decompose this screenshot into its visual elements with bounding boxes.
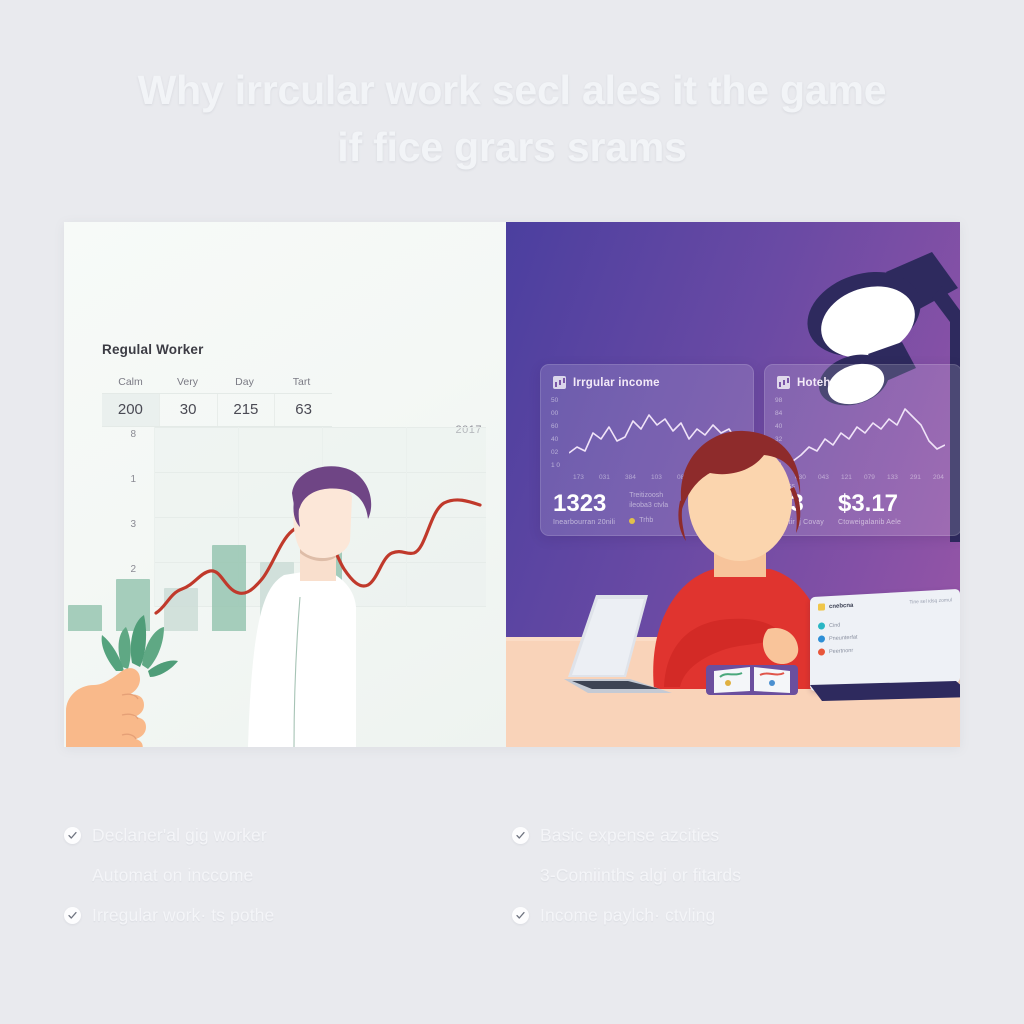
stat-block: 1323 Inearbourran 20nili: [553, 492, 615, 526]
checklist-label: Declaner'al gig worker: [92, 825, 267, 846]
x-axis-tick: 031: [599, 474, 610, 481]
stat-value: 1323: [553, 492, 615, 516]
y-axis-tick: 00: [551, 410, 558, 417]
illustration-panels: Regulal Worker Calm Very Day Tart 200 30…: [64, 222, 960, 747]
checklist-label: Automat on inccome: [92, 865, 253, 886]
check-circle-icon: [512, 907, 529, 924]
check-circle-icon-empty: [512, 867, 529, 884]
legend-dot-icon: [818, 622, 825, 629]
laptop-right[interactable]: cnebcna Tine sel idsq zomul Cind Pneunte…: [810, 593, 960, 703]
panel-gig-worker: Irrgular income 50 00 60 40 02 1 0 173 0…: [506, 222, 960, 747]
gridline: [154, 427, 486, 428]
hand-holding-plant: [64, 605, 216, 747]
laptop-base: [806, 681, 960, 703]
list-item: Cind: [818, 621, 857, 630]
title-line-2: if fice grars srams: [50, 119, 974, 176]
card-title: Hoteh: [797, 377, 831, 389]
checklist-item[interactable]: Income paylch· ctvling: [512, 895, 960, 935]
table-cell: 30: [160, 394, 218, 426]
brand-logo-icon: [818, 603, 825, 610]
checklist-item[interactable]: Basic expense azcities: [512, 815, 960, 855]
checklist-item[interactable]: Automat on inccome: [64, 855, 512, 895]
check-circle-icon: [64, 827, 81, 844]
stats-table: Calm Very Day Tart 200 30 215 63: [102, 370, 332, 427]
page-title: Why irrcular work secl ales it the game …: [0, 62, 1024, 175]
x-axis-tick: 291: [910, 474, 921, 481]
panel-regular-worker: Regulal Worker Calm Very Day Tart 200 30…: [64, 222, 506, 747]
y-axis-tick: 50: [551, 397, 558, 404]
laptop-left[interactable]: [544, 589, 694, 699]
list-item: Peertnonr: [818, 647, 857, 656]
table-header-cell: Calm: [102, 370, 159, 393]
card-title: Irrgular income: [573, 377, 660, 389]
checklist-item[interactable]: 3-Comiinths algi or fitards: [512, 855, 960, 895]
x-axis-tick: 204: [933, 474, 944, 481]
list-item: Pneunterfat: [818, 634, 857, 643]
checklist-label: Income paylch· ctvling: [540, 905, 715, 926]
y-axis-tick: 40: [551, 436, 558, 443]
checklist-column-left: Declaner'al gig worker Automat on inccom…: [64, 815, 512, 935]
y-axis-tick: 3: [96, 519, 136, 530]
person-shirt: [248, 569, 356, 747]
legend-label: Peertnonr: [829, 647, 853, 654]
y-axis-tick: 60: [551, 423, 558, 430]
plant-leaves: [102, 615, 178, 677]
table-header-row: Calm Very Day Tart: [102, 370, 332, 393]
person-illustration-left: [240, 457, 390, 747]
brand-name: cnebcna: [829, 602, 853, 609]
checklist-item[interactable]: Irregular work· ts pothe: [64, 895, 512, 935]
table-header-cell: Day: [216, 370, 273, 393]
card-header: Hoteh: [765, 365, 960, 389]
screen-link[interactable]: Tine sel idsq zomul: [909, 597, 952, 605]
card-header: Irrgular income: [541, 365, 753, 389]
y-axis-tick: 8: [96, 429, 136, 440]
y-axis-tick: 84: [775, 410, 782, 417]
title-line-1: Why irrcular work secl ales it the game: [50, 62, 974, 119]
laptop-screen[interactable]: cnebcna Tine sel idsq zomul Cind Pneunte…: [810, 589, 960, 691]
x-axis-tick: 173: [573, 474, 584, 481]
legend-label: Pneunterfat: [829, 634, 857, 642]
y-axis-tick: 1 0: [551, 462, 560, 469]
checklist-label: Basic expense azcities: [540, 825, 719, 846]
legend-label: Cind: [829, 622, 840, 629]
table-cell: 215: [218, 394, 276, 426]
table-header-cell: Very: [159, 370, 216, 393]
screen-legend-list: Cind Pneunterfat Peertnonr: [818, 621, 857, 662]
checklist-column-right: Basic expense azcities 3-Comiinths algi …: [512, 815, 960, 935]
checklist-label: Irregular work· ts pothe: [92, 905, 274, 926]
y-axis-tick: 02: [551, 449, 558, 456]
check-circle-icon-empty: [64, 867, 81, 884]
poster-canvas: Why irrcular work secl ales it the game …: [0, 0, 1024, 1024]
stat-sublabel: Inearbourran 20nili: [553, 519, 615, 526]
checklist-item[interactable]: Declaner'al gig worker: [64, 815, 512, 855]
table-cell: 63: [275, 394, 332, 426]
y-axis-tick: 1: [96, 474, 136, 485]
chart-icon: [553, 376, 566, 389]
x-axis-tick: 079: [864, 474, 875, 481]
y-axis-tick: 98: [775, 397, 782, 404]
table-row: 200 30 215 63: [102, 393, 332, 427]
chart-icon: [777, 376, 790, 389]
check-circle-icon: [512, 827, 529, 844]
legend-dot-icon: [818, 635, 825, 642]
table-header-cell: Tart: [273, 370, 330, 393]
table-cell: 200: [102, 394, 160, 426]
check-circle-icon: [64, 907, 81, 924]
checklist-label: 3-Comiinths algi or fitards: [540, 865, 741, 886]
checklist: Declaner'al gig worker Automat on inccom…: [64, 815, 960, 935]
y-axis-tick: 2: [96, 564, 136, 575]
tablet-with-book[interactable]: [706, 659, 798, 699]
left-card-title: Regulal Worker: [102, 342, 204, 357]
x-axis-tick: 133: [887, 474, 898, 481]
legend-dot-icon: [818, 648, 825, 655]
hand: [66, 668, 146, 747]
